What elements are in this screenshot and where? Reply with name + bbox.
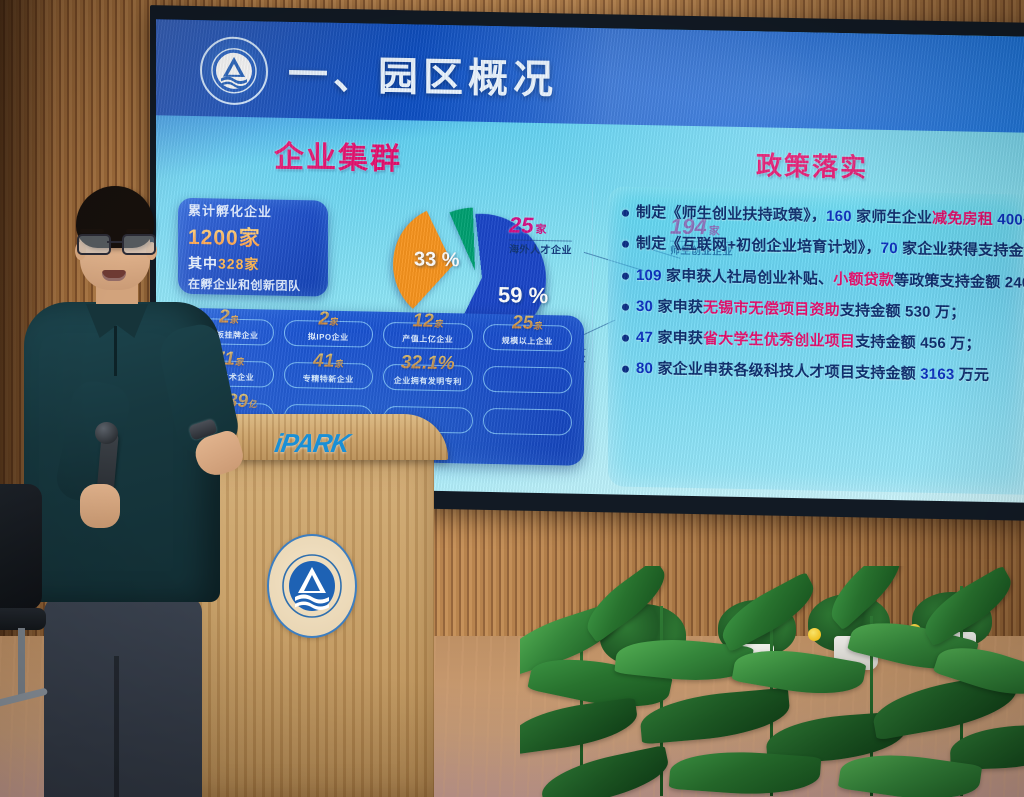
stat-value: 32.1% [401, 352, 455, 375]
stat-caption: 企业拥有发明专利 [394, 375, 462, 387]
plant-leaf [714, 572, 823, 653]
stat-value: 2家 [318, 309, 338, 331]
policy-text: 80 家企业申获各级科技人才项目支持金额 3163 万元 [636, 359, 989, 386]
presenter-hand-left [80, 484, 120, 528]
ipark-logo: iPARK [273, 428, 352, 459]
callout-unit: 家 [535, 224, 546, 236]
policy-implementation-panel: 制定《师生创业扶持政策》，160 家师生企业减免房租 400+ 万 制定《互联网… [608, 186, 1024, 494]
chair-leg [18, 628, 25, 700]
polo-placket [114, 326, 117, 376]
bullet-dot-icon [622, 241, 629, 248]
bullet-dot-icon [622, 366, 629, 373]
header-sheen [156, 19, 1024, 133]
chair-seat [0, 608, 46, 630]
policy-bullet: 制定《互联网+初创企业培育计划》，70 家企业获得支持金额 4 [622, 234, 1018, 262]
policy-bullet: 制定《师生创业扶持政策》，160 家师生企业减免房租 400+ 万 [622, 203, 1018, 231]
presenter-eyebrow-left [80, 229, 104, 233]
stat-caption: 拟IPO企业 [308, 331, 349, 343]
lens-left [77, 234, 111, 255]
stat-chip [483, 366, 573, 394]
stat-chip: 12家 产值上亿企业 [383, 322, 473, 350]
policy-text: 30 家申获无锡市无偿项目资助支持金额 530 万； [636, 297, 965, 324]
stat-chip: 2家 拟IPO企业 [284, 320, 374, 348]
stat-caption: 专精特新企业 [303, 373, 354, 385]
pie-label-orange-percent: 33 % [414, 248, 460, 272]
bullet-dot-icon [622, 335, 629, 342]
policy-section-title: 政策落实 [756, 145, 868, 184]
trouser-leg-split [114, 656, 119, 797]
stat-chip [483, 408, 573, 436]
callout-number: 25 [509, 212, 533, 237]
callout-label: 海外人才企业 [509, 240, 572, 256]
stat-value: 41家 [313, 350, 343, 373]
chair-backrest [0, 484, 42, 610]
bullet-dot-icon [622, 303, 629, 310]
column-divider [592, 142, 593, 472]
pie-callout-overseas: 25家 海外人才企业 [509, 212, 572, 256]
presenter-eyeglasses [77, 234, 154, 252]
stat-caption: 规模以上企业 [502, 335, 553, 347]
lens-right [122, 234, 156, 255]
pie-label-blue-percent: 59 % [498, 282, 548, 309]
foreground-plant-mass [520, 566, 1024, 797]
policy-bullet: 109 家申获人社局创业补贴、小额贷款等政策支持金额 240 万 [622, 265, 1018, 293]
presenter-eyebrow-right [126, 229, 150, 233]
plant-leaf [820, 566, 911, 630]
stat-row-2: 71家 高新技术企业 41家 专精特新企业 32.1% 企业拥有发明专利 [184, 360, 572, 394]
stat-value: 12家 [413, 310, 443, 333]
policy-text: 制定《互联网+初创企业培育计划》，70 家企业获得支持金额 4 [636, 234, 1024, 263]
podium-university-seal-icon [267, 534, 357, 638]
policy-text: 制定《师生创业扶持政策》，160 家师生企业减免房租 400+ 万 [636, 203, 1024, 232]
photo-scene: 一、园区概况 企业集群 政策落实 累计孵化企业 1200家 其中328家 在孵企… [0, 0, 1024, 797]
policy-text: 109 家申获人社局创业补贴、小额贷款等政策支持金额 240 万 [636, 265, 1024, 294]
stat-chip: 25家 规模以上企业 [483, 324, 573, 352]
bullet-dot-icon [622, 272, 629, 279]
stat-chip: 41家 专精特新企业 [284, 362, 374, 390]
policy-bullet: 80 家企业申获各级科技人才项目支持金额 3163 万元 [622, 359, 1018, 387]
stat-value: 25家 [512, 312, 542, 335]
plant-leaf [537, 745, 672, 797]
stat-chip: 32.1% 企业拥有发明专利 [383, 364, 473, 392]
cluster-section-title: 企业集群 [274, 132, 402, 179]
presenter-trousers [44, 596, 202, 797]
glasses-bridge [107, 241, 122, 243]
policy-text: 47 家申获省大学生优秀创业项目支持金额 456 万； [636, 328, 981, 355]
stat-caption: 产值上亿企业 [402, 333, 453, 345]
stat-row-1: 2家 新四板挂牌企业 2家 拟IPO企业 12家 产值上亿企业 25家 [184, 318, 572, 352]
slide-header: 一、园区概况 [156, 19, 1024, 133]
presenter-person [18, 186, 230, 797]
policy-bullet: 30 家申获无锡市无偿项目资助支持金额 530 万； [622, 296, 1018, 324]
bullet-dot-icon [622, 210, 629, 217]
plant-leaf [916, 566, 1021, 647]
jiangnan-university-emblem-icon [200, 36, 268, 105]
black-chair [0, 484, 46, 744]
slide-title: 一、园区概况 [288, 42, 558, 105]
policy-bullet: 47 家申获省大学生优秀创业项目支持金额 456 万； [622, 328, 1018, 356]
presenter-mouth [102, 270, 126, 281]
